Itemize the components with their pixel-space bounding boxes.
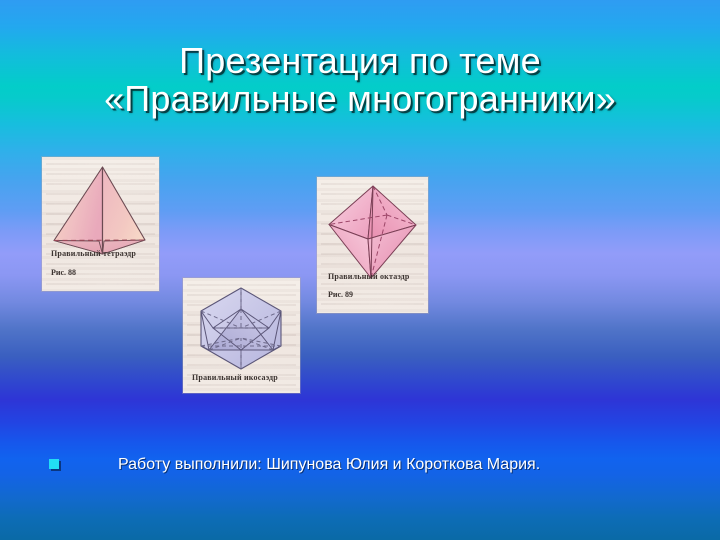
figure-caption-number: Рис. 88 [51,268,159,277]
figure-tetrahedron[interactable]: Правильный тетраэдр Рис. 88 [42,157,159,291]
title-line-2: «Правильные многогранники» [0,80,720,118]
authors-bullet-row: Работу выполнили: Шипунова Юлия и Коротк… [40,452,680,480]
figure-caption-name: Правильный тетраэдр [51,249,159,258]
figure-caption-name: Правильный икосаэдр [192,373,300,382]
figure-caption-number: Рис. 89 [328,290,428,299]
figure-octahedron[interactable]: Правильный октаэдр Рис. 89 [317,177,428,313]
square-bullet-icon [49,459,59,469]
figure-icosahedron[interactable]: Правильный икосаэдр [183,278,300,393]
figure-caption-name: Правильный октаэдр [328,272,428,281]
presentation-slide: Презентация по теме «Правильные многогра… [0,0,720,540]
authors-text: Работу выполнили: Шипунова Юлия и Коротк… [118,452,540,478]
title-line-1: Презентация по теме [0,42,720,80]
slide-title: Презентация по теме «Правильные многогра… [0,42,720,118]
